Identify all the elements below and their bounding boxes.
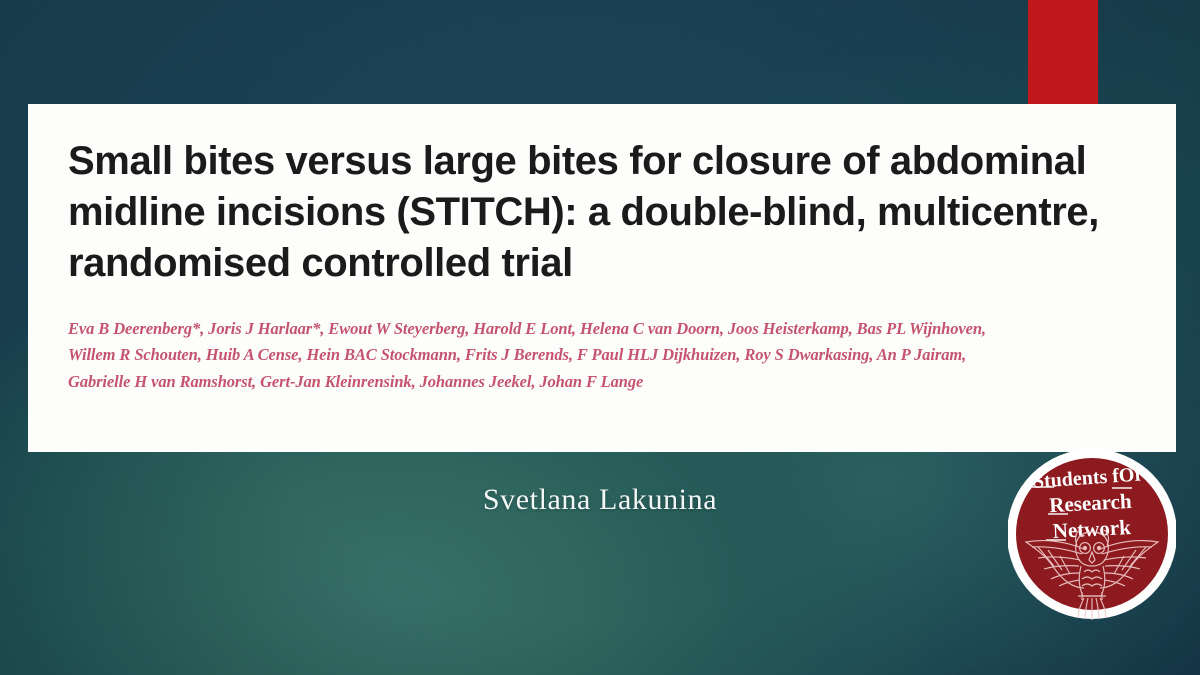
article-title-line-2: midline incisions (STITCH): a double-bli…	[68, 187, 1136, 238]
authors-line-2: Willem R Schouten, Huib A Cense, Hein BA…	[68, 342, 1136, 369]
presentation-slide: Small bites versus large bites for closu…	[0, 0, 1200, 675]
authors-line-3: Gabrielle H van Ramshorst, Gert-Jan Klei…	[68, 369, 1136, 396]
svg-text:Network: Network	[1052, 515, 1132, 543]
article-title-line-1: Small bites versus large bites for closu…	[68, 136, 1136, 187]
article-authors: Eva B Deerenberg*, Joris J Harlaar*, Ewo…	[68, 316, 1136, 396]
article-card: Small bites versus large bites for closu…	[28, 104, 1176, 452]
authors-line-1: Eva B Deerenberg*, Joris J Harlaar*, Ewo…	[68, 316, 1136, 343]
article-title-line-3: randomised controlled trial	[68, 238, 1136, 289]
students-for-research-network-logo: Students fOr Research Network	[1008, 446, 1176, 624]
svg-text:Research: Research	[1049, 489, 1133, 517]
article-title: Small bites versus large bites for closu…	[68, 136, 1136, 290]
